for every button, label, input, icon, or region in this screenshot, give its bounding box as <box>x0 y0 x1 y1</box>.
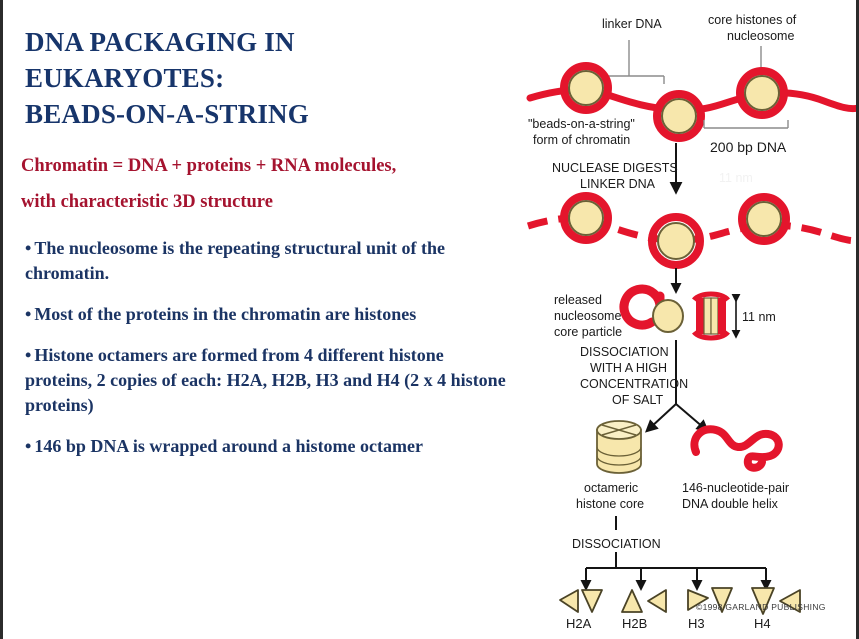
label-h2b: H2B <box>622 616 647 631</box>
arrow-to-histone-core <box>650 404 676 428</box>
label-core-histones-line2: nucleosome <box>727 29 794 43</box>
list-item-text: Most of the proteins in the chromatin ar… <box>34 304 416 324</box>
label-beads-form-line1: "beads-on-a-string" <box>528 117 635 131</box>
label-released-line1: released <box>554 293 602 307</box>
label-linker-dna: linker DNA <box>602 17 662 31</box>
bullet-icon: • <box>25 238 31 258</box>
page-title: DNA PACKAGING IN EUKARYOTES: BEADS-ON-A-… <box>25 24 511 132</box>
dissociation-manifold <box>586 552 766 568</box>
linker-dna-leader <box>602 40 664 76</box>
label-released-line2: nucleosome <box>554 309 621 323</box>
label-released-line3: core particle <box>554 325 622 339</box>
nucleosome-diagram-svg: linker DNA core histones of nucleosome "… <box>524 0 859 639</box>
label-h2a: H2A <box>566 616 592 631</box>
label-nuclease-line2: LINKER DNA <box>580 177 656 191</box>
free-dna-double-helix <box>694 429 778 468</box>
title-line-1: DNA PACKAGING IN <box>25 24 511 60</box>
title-line-2: EUKARYOTES: <box>25 60 511 96</box>
label-beads-form-line2: form of chromatin <box>533 133 630 147</box>
list-item: •146 bp DNA is wrapped around a histome … <box>25 434 511 459</box>
list-item: •The nucleosome is the repeating structu… <box>25 236 511 286</box>
label-h3: H3 <box>688 616 705 631</box>
label-11nm: 11 nm <box>742 310 776 324</box>
label-octameric-line2: histone core <box>576 497 644 511</box>
label-octameric-line1: octameric <box>584 481 638 495</box>
octameric-histone-core-cylinder <box>597 421 641 473</box>
nucleosome-bead <box>652 217 700 265</box>
label-helix-line1: 146-nucleotide-pair <box>682 481 789 495</box>
list-item: •Histone octamers are formed from 4 diff… <box>25 343 511 418</box>
subtitle-line-2: with characteristic 3D structure <box>21 184 511 220</box>
nucleosome-diagram-panel: linker DNA core histones of nucleosome "… <box>524 0 859 639</box>
nucleosome-bead <box>657 94 701 138</box>
label-erased-faint: 11 nm <box>719 171 753 185</box>
arrow-to-dna-helix <box>676 404 704 428</box>
nucleosome-bead <box>740 71 784 115</box>
list-item-text: The nucleosome is the repeating structur… <box>25 238 445 283</box>
label-dissoc-salt-line1: DISSOCIATION <box>580 345 669 359</box>
label-dissociation: DISSOCIATION <box>572 537 661 551</box>
label-dissoc-salt-line4: OF SALT <box>612 393 664 407</box>
label-nuclease-line1: NUCLEASE DIGESTS <box>552 161 678 175</box>
list-item: •Most of the proteins in the chromatin a… <box>25 302 511 327</box>
slide-canvas: DNA PACKAGING IN EUKARYOTES: BEADS-ON-A-… <box>0 0 859 639</box>
label-helix-line2: DNA double helix <box>682 497 779 511</box>
label-200bp-dna: 200 bp DNA <box>710 139 787 155</box>
core-particle-face-view <box>624 289 683 332</box>
bp200-bracket <box>704 120 788 128</box>
label-core-histones-line1: core histones of <box>708 13 797 27</box>
title-line-3: BEADS-ON-A-STRING <box>25 96 511 132</box>
nucleosome-bead <box>564 66 608 110</box>
histone-shape-h2b <box>622 590 666 612</box>
label-dissoc-salt-line2: WITH A HIGH <box>590 361 667 375</box>
list-item-text: Histone octamers are formed from 4 diffe… <box>25 345 506 415</box>
text-column: DNA PACKAGING IN EUKARYOTES: BEADS-ON-A-… <box>3 0 521 639</box>
bullet-icon: • <box>25 345 31 365</box>
bullet-icon: • <box>25 436 31 456</box>
subtitle-line-1: Chromatin = DNA + proteins + RNA molecul… <box>21 148 511 184</box>
label-h4: H4 <box>754 616 771 631</box>
nucleosome-bead <box>742 197 786 241</box>
list-item-text: 146 bp DNA is wrapped around a histome o… <box>34 436 423 456</box>
core-particle-side-view <box>694 294 728 338</box>
histone-shape-h2a <box>560 590 602 612</box>
label-dissoc-salt-line3: CONCENTRATION <box>580 377 688 391</box>
credit-garland-publishing: ©1998 GARLAND PUBLISHING <box>696 602 826 612</box>
nucleosome-bead <box>564 196 608 240</box>
bullet-icon: • <box>25 304 31 324</box>
subtitle: Chromatin = DNA + proteins + RNA molecul… <box>21 148 511 220</box>
